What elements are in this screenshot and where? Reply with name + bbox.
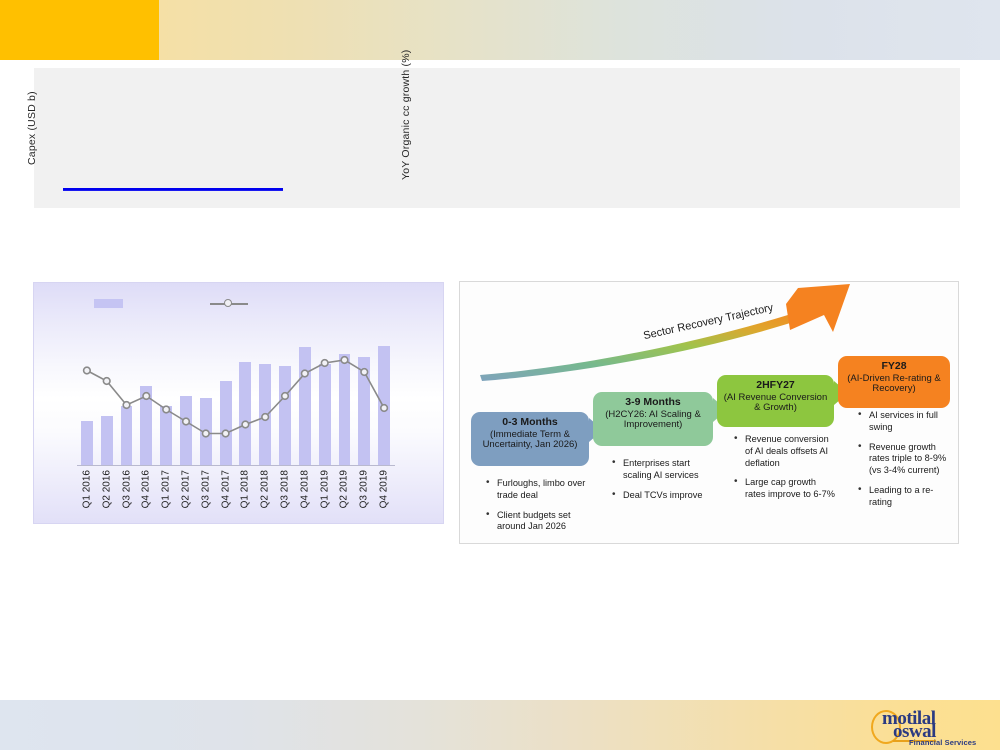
stage-subtitle-1: (H2CY26: AI Scaling & Improvement) [599,410,707,431]
chart-y-axis-label-left: Capex (USD b) [26,91,38,165]
chart-x-tick-label: Q1 2016 [81,470,92,508]
top-banner [0,0,1000,60]
hyperlink-rule[interactable] [63,188,283,191]
stage-subtitle-0: (Immediate Term & Uncertainty, Jan 2026) [477,430,583,451]
chart-x-tick-label: Q4 2019 [379,470,390,508]
chart-x-tick-label: Q1 2017 [161,470,172,508]
chart-x-tick-label: Q3 2019 [359,470,370,508]
chart-line-marker [163,406,170,413]
chart-x-axis-line [77,465,395,466]
chart-line-path [87,360,384,434]
chart-x-tick-slot: Q3 2017 [196,468,216,520]
chart-x-tick-slot: Q2 2019 [335,468,355,520]
list-item: Large cap growth rates improve to 6-7% [745,477,838,501]
chart-x-tick-label: Q4 2016 [141,470,152,508]
stage-box-fy28[interactable]: FY28 (AI-Driven Re-rating & Recovery) [838,356,950,408]
legend-swatch-capex-bar [94,299,123,308]
chart-line-marker [143,393,150,400]
chart-y-axis-label-right: YoY Organic cc growth (%) [400,50,412,180]
chart-plot-area [77,330,394,465]
chart-x-tick-slot: Q1 2017 [156,468,176,520]
chart-x-tick-slot: Q3 2019 [354,468,374,520]
chart-x-tick-label: Q1 2018 [240,470,251,508]
chart-x-tick-slot: Q2 2016 [97,468,117,520]
chart-x-tick-label: Q2 2017 [180,470,191,508]
stage-bullets-2: Revenue conversion of AI deals offsets A… [732,434,838,509]
chart-line-marker [242,421,249,428]
stage-title-1: 3-9 Months [599,397,707,409]
chart-x-tick-slot: Q4 2018 [295,468,315,520]
legend-swatch-growth-line [210,298,248,310]
content-placeholder-box [34,68,960,208]
stage-box-0-3-months[interactable]: 0-3 Months (Immediate Term & Uncertainty… [471,412,589,466]
list-item: Client budgets set around Jan 2026 [497,510,592,534]
chart-x-tick-label: Q4 2017 [220,470,231,508]
chart-line-marker [341,357,348,364]
slide-canvas: Capex (USD b) YoY Organic cc growth (%) … [0,0,1000,750]
motilal-oswal-logo: motilal oswal Financial Services [871,707,983,747]
stage-title-0: 0-3 Months [477,417,583,429]
list-item: Furloughs, limbo over trade deal [497,478,592,502]
chart-x-tick-slot: Q4 2019 [374,468,394,520]
chart-line-marker [361,369,368,376]
chart-x-tick-slot: Q1 2018 [236,468,256,520]
chart-x-tick-label: Q3 2016 [121,470,132,508]
chart-line-marker [123,402,130,409]
stage-bullets-3: AI services in full swingRevenue growth … [856,410,956,516]
chart-x-tick-label: Q2 2019 [339,470,350,508]
list-item: Revenue conversion of AI deals offsets A… [745,434,838,469]
chart-line-marker [262,414,269,421]
chart-x-tick-label: Q2 2016 [101,470,112,508]
stage-box-3-9-months[interactable]: 3-9 Months (H2CY26: AI Scaling & Improve… [593,392,713,446]
chart-line-marker [381,405,388,412]
chart-x-tick-slot: Q2 2018 [255,468,275,520]
stage-bullets-0: Furloughs, limbo over trade dealClient b… [484,478,592,541]
stage-subtitle-3: (AI-Driven Re-rating & Recovery) [844,374,944,395]
list-item: Enterprises start scaling AI services [623,458,714,482]
stage-title-3: FY28 [844,361,944,373]
footer-banner [0,700,1000,750]
stage-bullets-1: Enterprises start scaling AI servicesDea… [610,458,714,509]
chart-line-marker [203,430,210,437]
arrow-head [786,284,850,332]
chart-x-tick-label: Q3 2018 [280,470,291,508]
chart-line-marker [282,393,289,400]
chart-line-marker [183,418,190,425]
list-item: Revenue growth rates triple to 8-9% (vs … [869,442,956,477]
chart-x-tick-slot: Q4 2017 [216,468,236,520]
stage-title-2: 2HFY27 [723,380,828,392]
arrow-tail [480,308,812,381]
logo-tagline: Financial Services [909,738,976,747]
chart-line-marker [302,370,309,377]
legend-line-marker [224,299,232,307]
chart-x-tick-slot: Q1 2016 [77,468,97,520]
chart-x-tick-label: Q4 2018 [299,470,310,508]
list-item: Deal TCVs improve [623,490,714,502]
chart-line-series [77,330,394,465]
chart-x-tick-slot: Q3 2018 [275,468,295,520]
stage-box-2hfy27[interactable]: 2HFY27 (AI Revenue Conversion & Growth) [717,375,834,427]
top-banner-accent-block [0,0,159,60]
chart-x-tick-label: Q1 2019 [319,470,330,508]
chart-line-marker [103,378,110,385]
list-item: AI services in full swing [869,410,956,434]
list-item: Leading to a re-rating [869,485,956,509]
chart-x-axis-tick-labels: Q1 2016Q2 2016Q3 2016Q4 2016Q1 2017Q2 20… [77,468,394,520]
chart-line-marker [222,430,229,437]
chart-x-tick-slot: Q1 2019 [315,468,335,520]
chart-x-tick-label: Q3 2017 [200,470,211,508]
chart-line-marker [84,367,91,374]
chart-x-tick-slot: Q3 2016 [117,468,137,520]
chart-line-marker [321,360,328,367]
chart-x-tick-label: Q2 2018 [260,470,271,508]
stage-subtitle-2: (AI Revenue Conversion & Growth) [723,393,828,414]
chart-x-tick-slot: Q2 2017 [176,468,196,520]
chart-x-tick-slot: Q4 2016 [136,468,156,520]
